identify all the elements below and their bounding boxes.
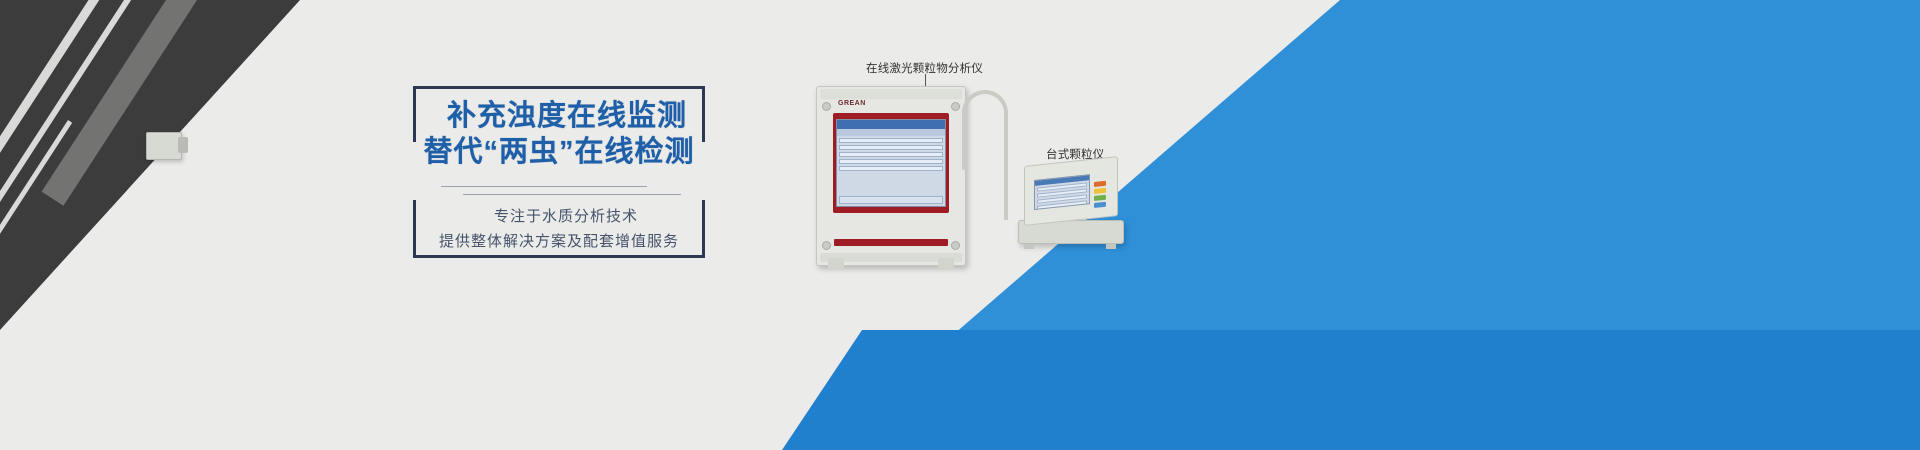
bracket-bottom-rule <box>413 255 705 258</box>
product-image-desktop-unit <box>1018 166 1122 244</box>
display-footer-bar <box>839 196 943 204</box>
display-data-row <box>839 159 943 164</box>
desktop-unit-foot <box>1024 244 1034 249</box>
subtitle-line-2: 提供整体解决方案及配套增值服务 <box>413 229 705 254</box>
headline-line-1: 补充浊度在线监测 <box>413 98 705 134</box>
product-image-analyzer: GREAN <box>816 86 966 266</box>
analyzer-mount-foot <box>828 258 844 270</box>
divider-group <box>441 186 681 198</box>
display-data-row <box>839 145 943 150</box>
keypad-key <box>1094 195 1106 201</box>
screw-icon <box>951 102 960 111</box>
divider-rule-upper <box>441 186 647 187</box>
desktop-unit-keypad <box>1094 181 1108 208</box>
sample-tubing <box>962 90 1008 160</box>
display-header-row <box>837 129 945 136</box>
headline-line-2: 替代“两虫”在线检测 <box>413 134 705 170</box>
sample-tubing-leg <box>962 150 966 170</box>
headline-block: 补充浊度在线监测 替代“两虫”在线检测 专注于水质分析技术 提供整体解决方案及配… <box>413 86 705 258</box>
analyzer-nameplate <box>834 239 948 246</box>
display-data-row <box>839 166 943 171</box>
sample-tubing-leg <box>1004 150 1008 220</box>
desktop-unit-foot <box>1106 244 1116 249</box>
screw-icon <box>822 102 831 111</box>
page-title: 补充浊度在线监测 替代“两虫”在线检测 <box>413 98 705 170</box>
keypad-key <box>1094 188 1106 194</box>
display-data-row <box>839 138 943 143</box>
analyzer-brand-mark: GREAN <box>838 100 866 107</box>
display-data-row <box>839 152 943 157</box>
subtitle-line-1: 专注于水质分析技术 <box>413 204 705 229</box>
subtitle-block: 专注于水质分析技术 提供整体解决方案及配套增值服务 <box>413 204 705 254</box>
screw-icon <box>822 241 831 250</box>
analyzer-sensor-module <box>146 132 182 160</box>
promo-banner: 补充浊度在线监测 替代“两虫”在线检测 专注于水质分析技术 提供整体解决方案及配… <box>0 0 1920 450</box>
screw-icon <box>951 241 960 250</box>
display-data-grid <box>837 136 945 175</box>
analyzer-display <box>836 119 946 207</box>
analyzer-sensor-cap <box>178 137 188 153</box>
desktop-unit-display <box>1034 174 1090 210</box>
display-title-bar <box>837 120 945 129</box>
analyzer-top-panel <box>820 89 962 99</box>
keypad-key <box>1094 181 1106 187</box>
divider-rule-lower <box>463 194 681 195</box>
bracket-top-rule <box>413 86 705 89</box>
analyzer-mount-foot <box>938 258 954 270</box>
